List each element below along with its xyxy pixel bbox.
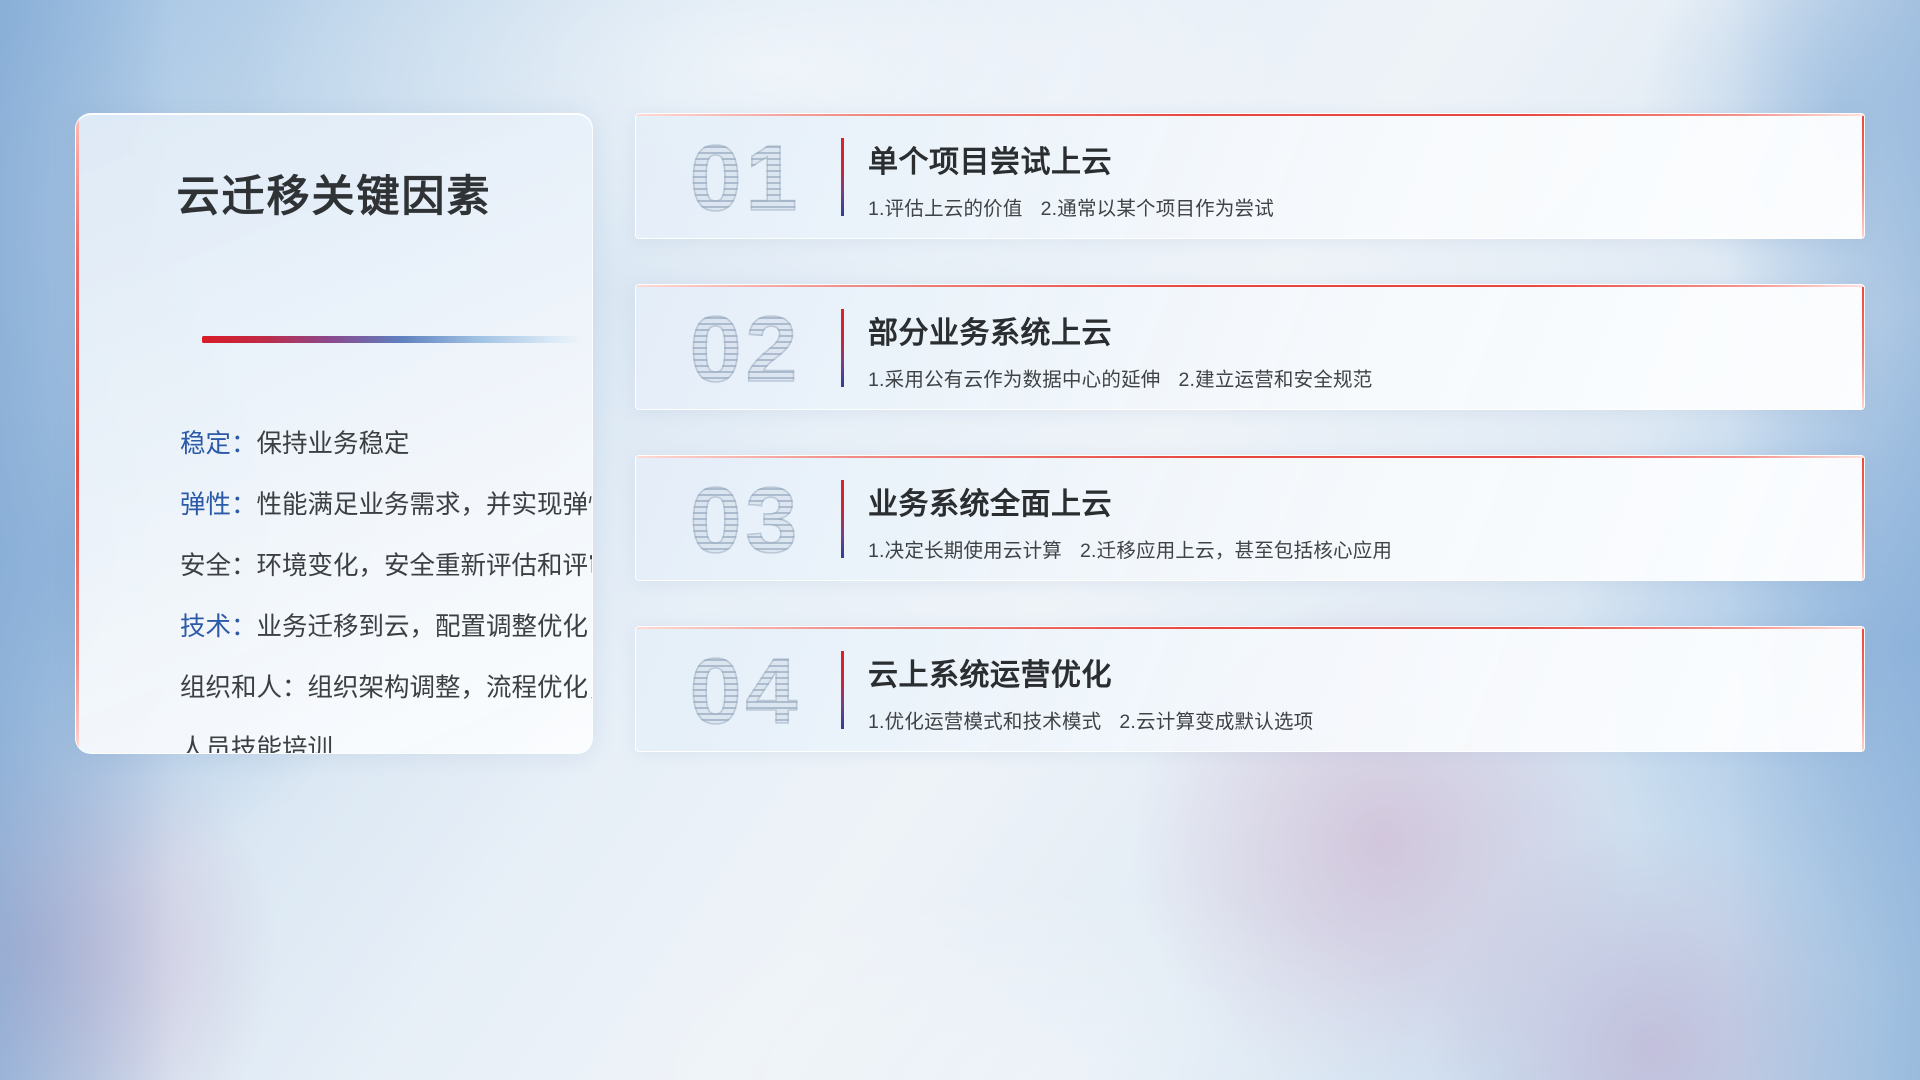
key-factors-panel: 云迁移关键因素 稳定：保持业务稳定 弹性：性能满足业务需求，并实现弹性 安全：环…: [75, 113, 593, 754]
title-underline-rule: [202, 336, 582, 343]
stage-title: 业务系统全面上云: [868, 479, 1112, 523]
stage-divider-bar: [841, 480, 844, 558]
stage-number: 02: [658, 293, 833, 405]
stage-description: 1.评估上云的价值2.通常以某个项目作为尝试: [868, 192, 1274, 221]
stage-point-1: 1.决定长期使用云计算: [868, 540, 1062, 562]
stage-point-1: 1.评估上云的价值: [868, 198, 1023, 220]
stage-card[interactable]: 04 04 云上系统运营优化 1.优化运营模式和技术模式2.云计算变成默认选项: [635, 626, 1865, 752]
card-right-accent: [1862, 456, 1864, 580]
card-right-accent: [1862, 114, 1864, 238]
card-right-accent: [1862, 627, 1864, 751]
stage-point-2: 2.迁移应用上云，甚至包括核心应用: [1080, 540, 1392, 562]
stage-point-1: 1.优化运营模式和技术模式: [868, 711, 1101, 733]
stage-description: 1.采用公有云作为数据中心的延伸2.建立运营和安全规范: [868, 363, 1372, 392]
factor-label: 安全：: [180, 552, 257, 580]
key-factors-list: 稳定：保持业务稳定 弹性：性能满足业务需求，并实现弹性 安全：环境变化，安全重新…: [180, 414, 566, 754]
stage-divider-bar: [841, 651, 844, 729]
stage-title: 部分业务系统上云: [868, 308, 1112, 352]
factor-text: 性能满足业务需求，并实现弹性: [257, 491, 593, 519]
stage-description: 1.优化运营模式和技术模式2.云计算变成默认选项: [868, 705, 1313, 734]
factor-text: 人员技能培训: [180, 735, 333, 754]
stage-card[interactable]: 03 03 业务系统全面上云 1.决定长期使用云计算2.迁移应用上云，甚至包括核…: [635, 455, 1865, 581]
factor-item-continuation: 人员技能培训: [180, 719, 566, 754]
factor-item: 弹性：性能满足业务需求，并实现弹性: [180, 475, 566, 536]
stage-point-2: 2.通常以某个项目作为尝试: [1041, 198, 1274, 220]
stage-point-2: 2.云计算变成默认选项: [1119, 711, 1313, 733]
stage-divider-bar: [841, 138, 844, 216]
card-right-accent: [1862, 285, 1864, 409]
stage-point-2: 2.建立运营和安全规范: [1178, 369, 1372, 391]
stage-number: 03: [658, 464, 833, 576]
factor-text: 业务迁移到云，配置调整优化: [257, 613, 589, 641]
stage-point-1: 1.采用公有云作为数据中心的延伸: [868, 369, 1160, 391]
panel-title: 云迁移关键因素: [76, 162, 592, 224]
stage-divider-bar: [841, 309, 844, 387]
factor-text: 组织架构调整，流程优化，: [308, 674, 593, 702]
factor-text: 保持业务稳定: [257, 430, 410, 458]
factor-item: 安全：环境变化，安全重新评估和评审: [180, 536, 566, 597]
factor-item: 稳定：保持业务稳定: [180, 414, 566, 475]
stage-card[interactable]: 02 02 部分业务系统上云 1.采用公有云作为数据中心的延伸2.建立运营和安全…: [635, 284, 1865, 410]
stage-title: 单个项目尝试上云: [868, 137, 1112, 181]
stage-title: 云上系统运营优化: [868, 650, 1112, 694]
factor-text: 环境变化，安全重新评估和评审: [257, 552, 593, 580]
stage-number: 04: [658, 635, 833, 747]
factor-item: 技术：业务迁移到云，配置调整优化: [180, 597, 566, 658]
stage-card[interactable]: 01 01 单个项目尝试上云 1.评估上云的价值2.通常以某个项目作为尝试: [635, 113, 1865, 239]
factor-label: 技术：: [180, 613, 257, 641]
migration-stages-list: 01 01 单个项目尝试上云 1.评估上云的价值2.通常以某个项目作为尝试 02…: [635, 113, 1865, 797]
stage-description: 1.决定长期使用云计算2.迁移应用上云，甚至包括核心应用: [868, 534, 1392, 563]
factor-item: 组织和人：组织架构调整，流程优化，: [180, 658, 566, 719]
factor-label: 稳定：: [180, 430, 257, 458]
factor-label: 组织和人：: [180, 674, 308, 702]
stage-number: 01: [658, 122, 833, 234]
factor-label: 弹性：: [180, 491, 257, 519]
